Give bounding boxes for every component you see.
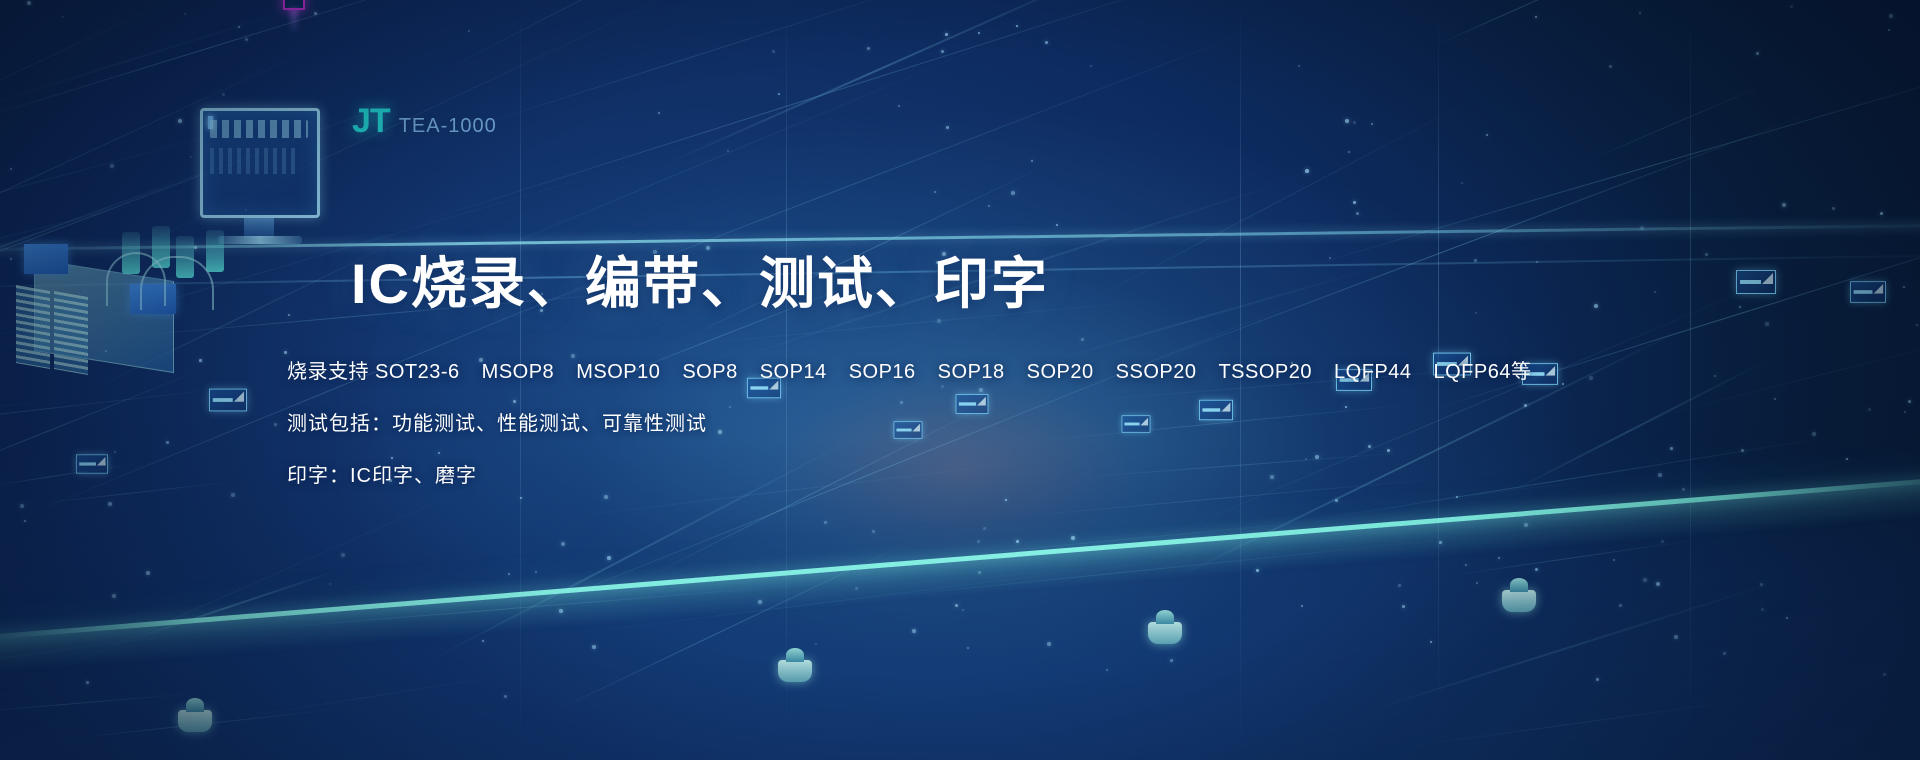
monitor-icon [200, 108, 320, 218]
package-label-7: SOP20 [1027, 361, 1094, 383]
package-label-5: SOP16 [849, 361, 916, 383]
brand-model-text: TEA-1000 [399, 115, 497, 138]
light-pillar-decoration [1690, 0, 1691, 760]
rail-shadow-decoration [0, 480, 1920, 676]
chip-icon [209, 389, 247, 412]
banner-text-block: IC烧录、编带、测试、印字 烧录支持 SOT23-6MSOP8MSOP10SOP… [287, 252, 1587, 486]
package-label-3: SOP8 [682, 361, 737, 383]
magenta-accent-icon [283, 0, 305, 10]
rail-support-decoration [1148, 622, 1182, 644]
packages-spec-line: 烧录支持 SOT23-6MSOP8MSOP10SOP8SOP14SOP16SOP… [287, 362, 1587, 382]
chip-icon [76, 454, 108, 473]
package-label-10: LQFP44 [1334, 361, 1411, 383]
ic-services-hero-banner: JT TEA-1000 IC烧录、编带、测试、印字 烧录支持 [0, 0, 1920, 760]
package-list: SOT23-6MSOP8MSOP10SOP8SOP14SOP16SOP18SOP… [375, 362, 1531, 382]
rail-support-decoration [778, 660, 812, 682]
rail-support-decoration [1502, 590, 1536, 612]
package-label-1: MSOP8 [482, 361, 555, 383]
production-machine-graphic [10, 222, 225, 392]
testing-scope-line: 测试包括：功能测试、性能测试、可靠性测试 [287, 414, 1587, 434]
page-title: IC烧录、编带、测试、印字 [351, 252, 1587, 316]
brand-logo: JT TEA-1000 [352, 102, 497, 141]
floor-gradient-decoration [0, 440, 1920, 760]
package-label-4: SOP14 [760, 361, 827, 383]
package-label-8: SSOP20 [1116, 361, 1197, 383]
chip-icon [1850, 281, 1886, 303]
rail-support-decoration [178, 710, 212, 732]
chip-icon [1736, 270, 1776, 294]
package-label-6: SOP18 [938, 361, 1005, 383]
brand-logo-text: JT [352, 102, 390, 141]
light-beam-decoration [290, 8, 298, 34]
printing-scope-line: 印字：IC印字、磨字 [287, 466, 1587, 486]
packages-lead-label: 烧录支持 [287, 362, 369, 382]
package-label-0: SOT23-6 [375, 361, 460, 383]
package-label-9: TSSOP20 [1218, 361, 1312, 383]
package-label-2: MSOP10 [576, 361, 660, 383]
package-label-11: LQFP64等 [1434, 361, 1532, 383]
